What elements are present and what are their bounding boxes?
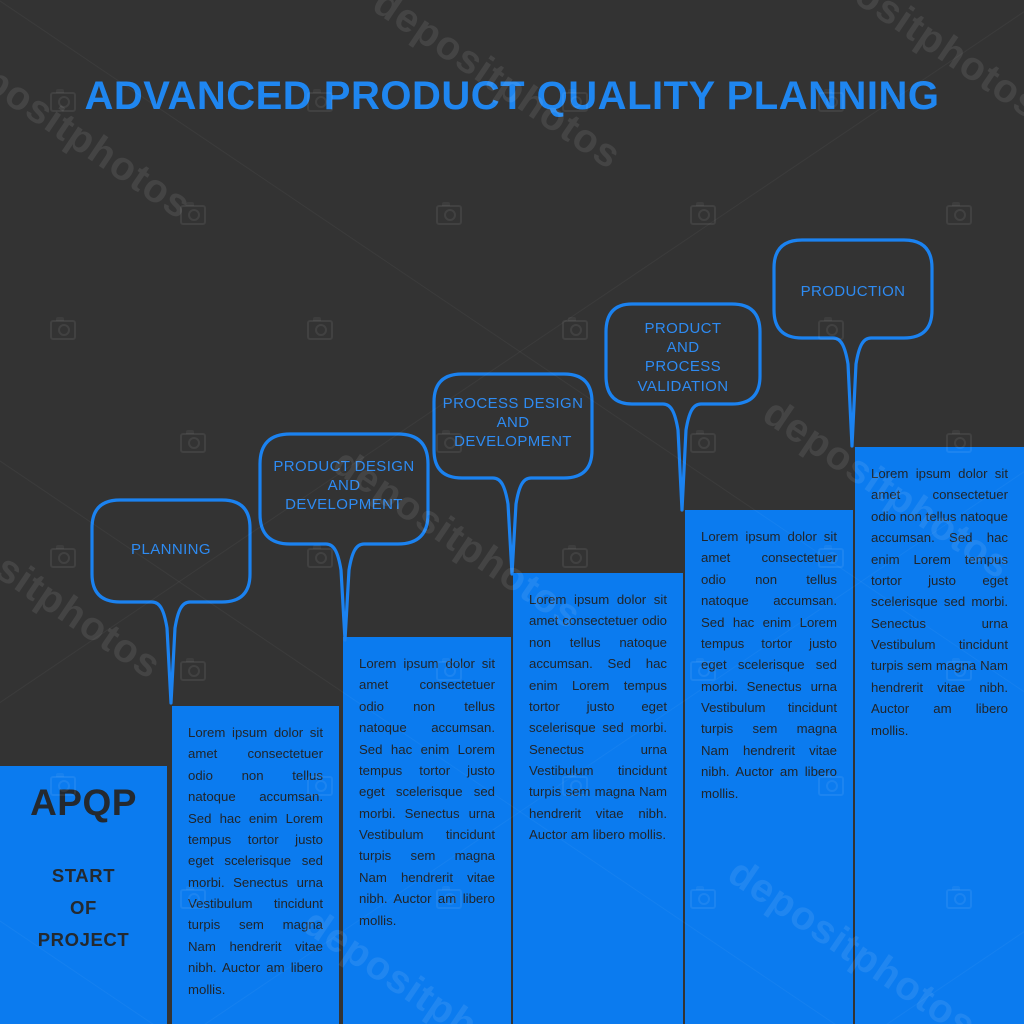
page-title: ADVANCED PRODUCT QUALITY PLANNING [0, 74, 1024, 119]
bubble-production[interactable]: PRODUCTION [772, 238, 934, 450]
bubble-process-design-and-development[interactable]: PROCESS DESIGN AND DEVELOPMENT [432, 372, 594, 578]
bubble-planning[interactable]: PLANNING [90, 498, 252, 708]
bubble-product-and-process-validation[interactable]: PRODUCT AND PROCESS VALIDATION [604, 302, 762, 514]
column-body-text: Lorem ipsum dolor sit amet consectetuer … [685, 510, 853, 804]
column-body-text: Lorem ipsum dolor sit amet consectetuer … [855, 447, 1024, 741]
apqp-subtitle: STARTOFPROJECT [0, 824, 167, 955]
column-apqp-start[interactable]: APQP STARTOFPROJECT [0, 766, 167, 1024]
apqp-title: APQP [0, 766, 167, 824]
column-product-and-process-validation[interactable]: Lorem ipsum dolor sit amet consectetuer … [685, 510, 853, 1024]
watermark-text: depositphotos [0, 30, 199, 229]
column-body-text: Lorem ipsum dolor sit amet consectetuer … [343, 637, 511, 931]
column-process-design-and-development[interactable]: Lorem ipsum dolor sit amet consectetuer … [513, 573, 683, 1024]
column-planning[interactable]: Lorem ipsum dolor sit amet consectetuer … [172, 706, 339, 1024]
bubble-product-design-and-development[interactable]: PRODUCT DESIGN AND DEVELOPMENT [258, 432, 430, 644]
infographic-canvas: depositphotos depositphotos depositphoto… [0, 0, 1024, 1024]
column-body-text: Lorem ipsum dolor sit amet consectetuer … [172, 706, 339, 1000]
column-production[interactable]: Lorem ipsum dolor sit amet consectetuer … [855, 447, 1024, 1024]
column-product-design-and-development[interactable]: Lorem ipsum dolor sit amet consectetuer … [343, 637, 511, 1024]
column-body-text: Lorem ipsum dolor sit amet consectetuer … [513, 573, 683, 846]
